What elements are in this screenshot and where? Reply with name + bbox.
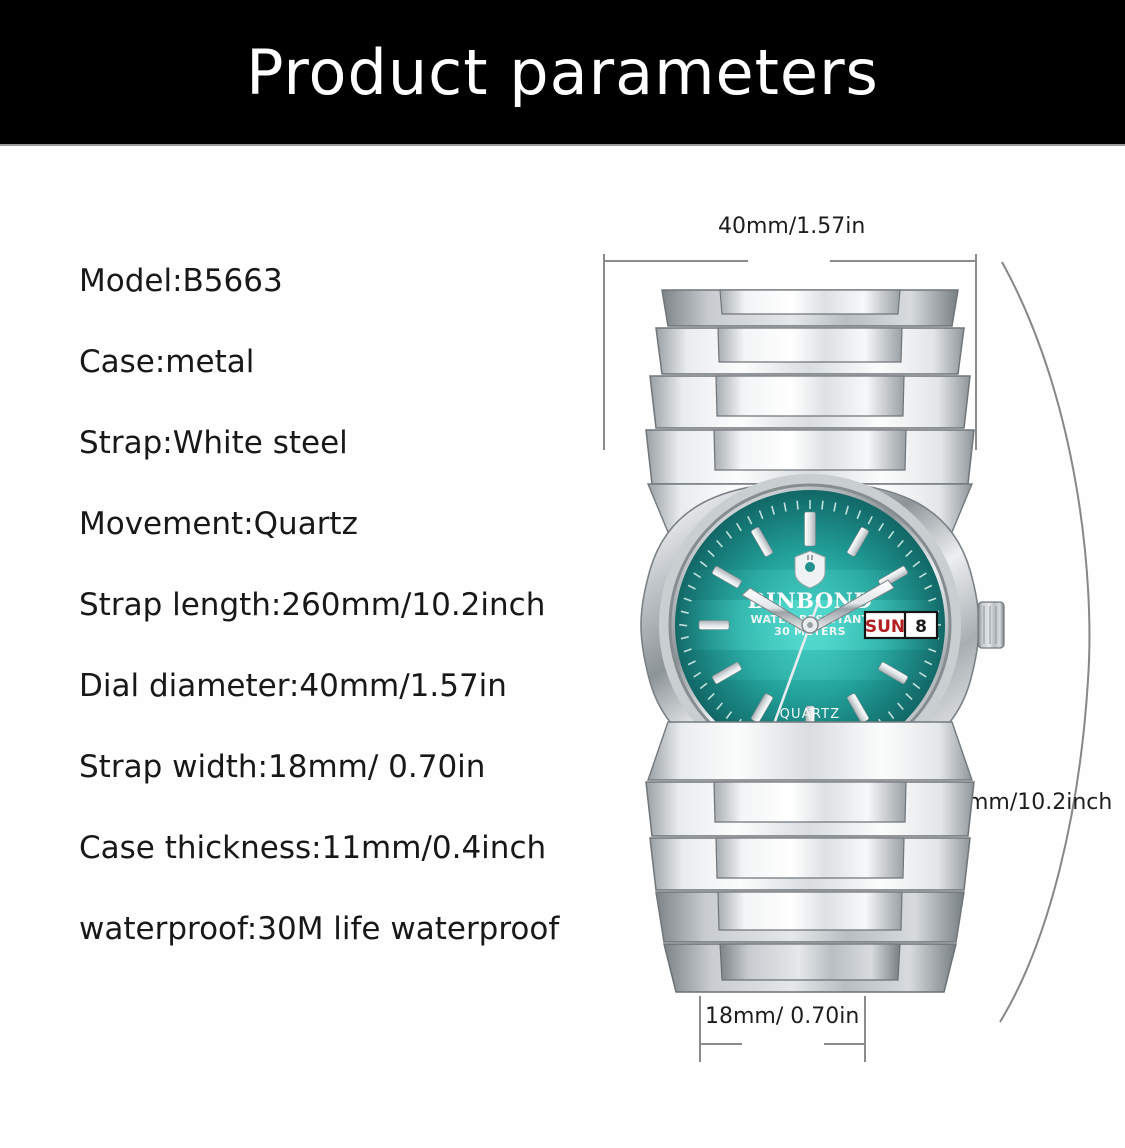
day-text: SUN <box>865 617 905 637</box>
spec-strap: Strap:White steel <box>79 428 679 459</box>
brand-crest-icon <box>795 551 825 588</box>
dimension-line-bottom-right <box>824 1043 866 1045</box>
product-parameters-image: Product parameters Model:B5663 Case:meta… <box>0 0 1125 1148</box>
date-text: 8 <box>915 617 927 637</box>
spec-case-thickness: Case thickness:11mm/0.4inch <box>79 833 679 864</box>
watch-product-image: BINBOND WATER RESISTANT 30 METERS QUARTZ… <box>600 270 1020 1030</box>
page-title: Product parameters <box>246 36 879 109</box>
spec-case: Case:metal <box>79 347 679 378</box>
watch-crown <box>978 602 1004 648</box>
spec-model: Model:B5663 <box>79 266 679 297</box>
spec-dial-diameter: Dial diameter:40mm/1.57in <box>79 671 679 702</box>
dial-movement-text: QUARTZ <box>780 707 841 722</box>
specification-list: Model:B5663 Case:metal Strap:White steel… <box>79 266 679 995</box>
spec-strap-width: Strap width:18mm/ 0.70in <box>79 752 679 783</box>
spec-movement: Movement:Quartz <box>79 509 679 540</box>
day-date-window: SUN 8 <box>865 612 937 638</box>
watch-dial: BINBOND WATER RESISTANT 30 METERS QUARTZ… <box>675 490 945 760</box>
dimension-line-top-left <box>604 260 748 262</box>
spec-waterproof: waterproof:30M life waterproof <box>79 914 679 945</box>
bracelet-lower <box>646 722 974 992</box>
header-banner: Product parameters <box>0 0 1125 146</box>
dimension-label-dial-width: 40mm/1.57in <box>718 214 865 239</box>
dimension-line-top-right <box>830 260 976 262</box>
spec-strap-length: Strap length:260mm/10.2inch <box>79 590 679 621</box>
dimension-line-bottom-left <box>700 1043 742 1045</box>
